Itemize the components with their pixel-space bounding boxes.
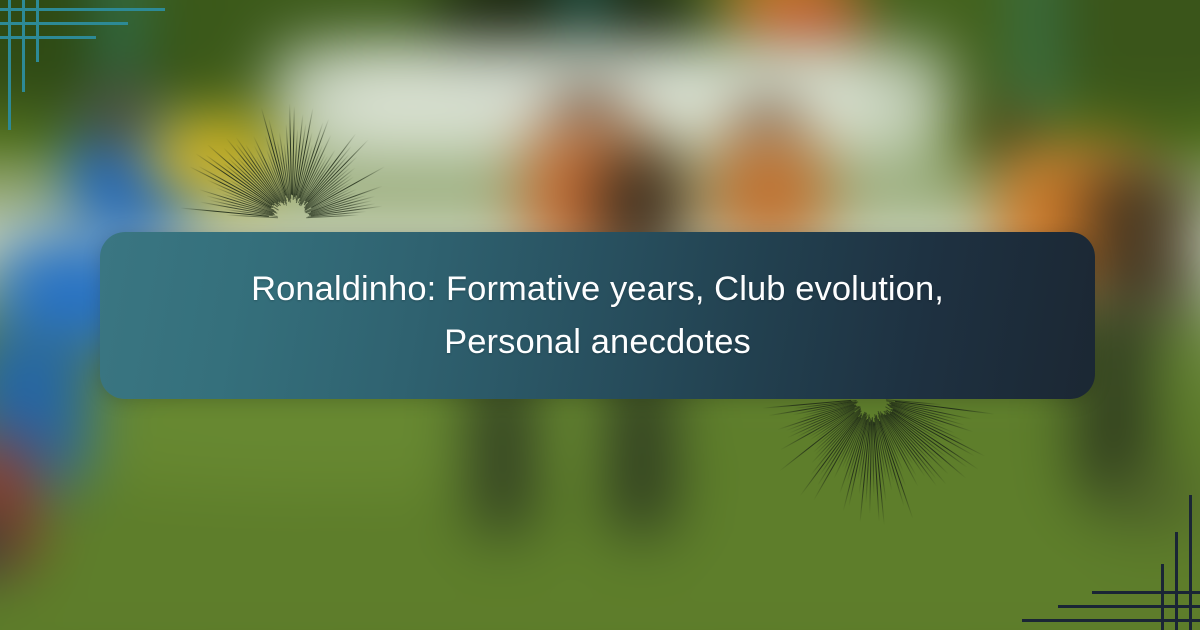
bracket-line-horizontal-3 xyxy=(1092,591,1200,594)
title-panel: Ronaldinho: Formative years, Club evolut… xyxy=(100,232,1095,399)
bracket-line-vertical-3 xyxy=(1161,564,1164,630)
corner-bracket-top-left xyxy=(0,0,180,140)
corner-bracket-bottom-right xyxy=(1010,480,1200,630)
bracket-line-vertical-3 xyxy=(36,0,39,62)
bracket-line-horizontal-2 xyxy=(1058,605,1200,608)
bracket-line-horizontal-2 xyxy=(0,22,128,25)
bracket-line-vertical-1 xyxy=(1189,495,1192,630)
bracket-line-horizontal-1 xyxy=(1022,619,1200,622)
bracket-line-vertical-2 xyxy=(22,0,25,92)
share-card-canvas: Ronaldinho: Formative years, Club evolut… xyxy=(0,0,1200,630)
bracket-line-horizontal-3 xyxy=(0,36,96,39)
bracket-line-vertical-1 xyxy=(8,0,11,130)
page-title: Ronaldinho: Formative years, Club evolut… xyxy=(218,263,978,369)
bracket-line-vertical-2 xyxy=(1175,532,1178,630)
